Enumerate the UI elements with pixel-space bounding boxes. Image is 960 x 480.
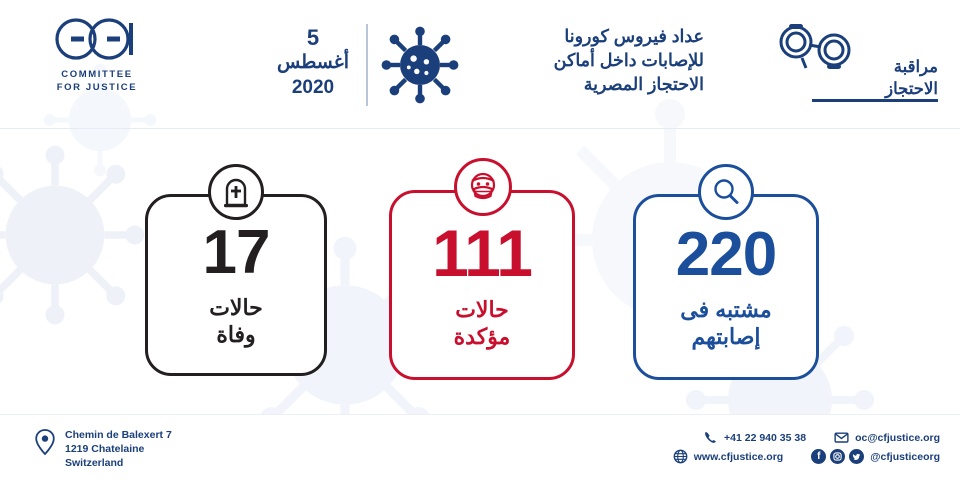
suspected-label: مشتبه فى إصابتهم <box>680 296 771 350</box>
infographic-page: COMMITTEE FOR JUSTICE 5 أغسطس 2020 <box>0 0 960 480</box>
contact-details: +41 22 940 35 38 oc@cfjustice.org <box>673 428 940 466</box>
detention-watch-label: مراقبة الاحتجاز <box>885 56 938 100</box>
contact-row-web-social: www.cfjustice.org f <box>673 447 940 466</box>
cfj-monogram-icon <box>51 16 143 62</box>
address-line1: Chemin de Balexert 7 <box>65 428 172 442</box>
tombstone-icon <box>208 164 264 220</box>
organization-name: COMMITTEE FOR JUSTICE <box>57 68 137 94</box>
website-url[interactable]: www.cfjustice.org <box>694 451 783 463</box>
header-rule <box>0 128 960 129</box>
handcuffs-icon <box>772 20 860 87</box>
logo-name-line2: FOR JUSTICE <box>57 81 137 94</box>
confirmed-label: حالات مؤكدة <box>454 296 511 350</box>
detention-watch-badge: مراقبة الاحتجاز <box>772 20 944 112</box>
logo-name-line1: COMMITTEE <box>57 68 137 81</box>
stat-card-deaths: 17 حالات وفاة <box>145 194 327 376</box>
phone-number[interactable]: +41 22 940 35 38 <box>724 432 806 444</box>
email-address[interactable]: oc@cfjustice.org <box>855 432 940 444</box>
social-handle[interactable]: @cfjusticeorg <box>870 451 940 463</box>
stat-card-suspected: 220 مشتبه فى إصابتهم <box>633 194 819 380</box>
header-divider <box>366 24 368 106</box>
magnifier-icon <box>698 164 754 220</box>
organization-logo: COMMITTEE FOR JUSTICE <box>22 16 172 112</box>
statistics-cards: 17 حالات وفاة 111 حالات مؤكدة <box>0 150 960 400</box>
badge-line2: الاحتجاز <box>885 78 938 100</box>
page-title-line3: الاحتجاز المصرية <box>462 72 704 96</box>
deaths-count: 17 <box>203 222 270 284</box>
address-lines: Chemin de Balexert 7 1219 Chatelaine Swi… <box>65 428 172 470</box>
date-day: 5 <box>268 26 358 50</box>
deaths-label-line2: وفاة <box>209 321 263 348</box>
address-line2: 1219 Chatelaine <box>65 442 172 456</box>
report-date: 5 أغسطس 2020 <box>268 26 358 106</box>
badge-line1: مراقبة <box>885 56 938 78</box>
confirmed-label-line2: مؤكدة <box>454 323 511 350</box>
deaths-label-line1: حالات <box>209 294 263 321</box>
stat-card-confirmed: 111 حالات مؤكدة <box>389 190 575 380</box>
facebook-icon[interactable]: f <box>811 449 826 464</box>
badge-underline <box>812 99 938 102</box>
page-title: عداد فيروس كورونا للإصابات داخل أماكن ال… <box>462 24 704 96</box>
address-line3: Switzerland <box>65 456 172 470</box>
suspected-label-line2: إصابتهم <box>680 323 771 350</box>
suspected-count: 220 <box>676 224 776 286</box>
date-year: 2020 <box>268 76 358 100</box>
date-month: أغسطس <box>268 50 358 76</box>
instagram-icon[interactable] <box>830 449 845 464</box>
social-icon-group: f <box>811 449 864 464</box>
sick-face-mask-icon <box>454 158 512 216</box>
phone-icon <box>703 430 718 445</box>
contact-row-phone-email: +41 22 940 35 38 oc@cfjustice.org <box>673 428 940 447</box>
office-address: Chemin de Balexert 7 1219 Chatelaine Swi… <box>34 428 172 470</box>
footer-rule <box>0 414 960 415</box>
page-footer: Chemin de Balexert 7 1219 Chatelaine Swi… <box>0 414 960 480</box>
page-header: COMMITTEE FOR JUSTICE 5 أغسطس 2020 <box>0 0 960 128</box>
confirmed-label-line1: حالات <box>454 296 511 323</box>
page-title-line2: للإصابات داخل أماكن <box>462 48 704 72</box>
map-pin-icon <box>34 429 56 455</box>
globe-icon <box>673 449 688 464</box>
envelope-icon <box>834 430 849 445</box>
page-title-line1: عداد فيروس كورونا <box>462 24 704 48</box>
confirmed-count: 111 <box>432 220 532 286</box>
twitter-icon[interactable] <box>849 449 864 464</box>
coronavirus-icon <box>380 22 460 108</box>
deaths-label: حالات وفاة <box>209 294 263 348</box>
suspected-label-line1: مشتبه فى <box>680 296 771 323</box>
